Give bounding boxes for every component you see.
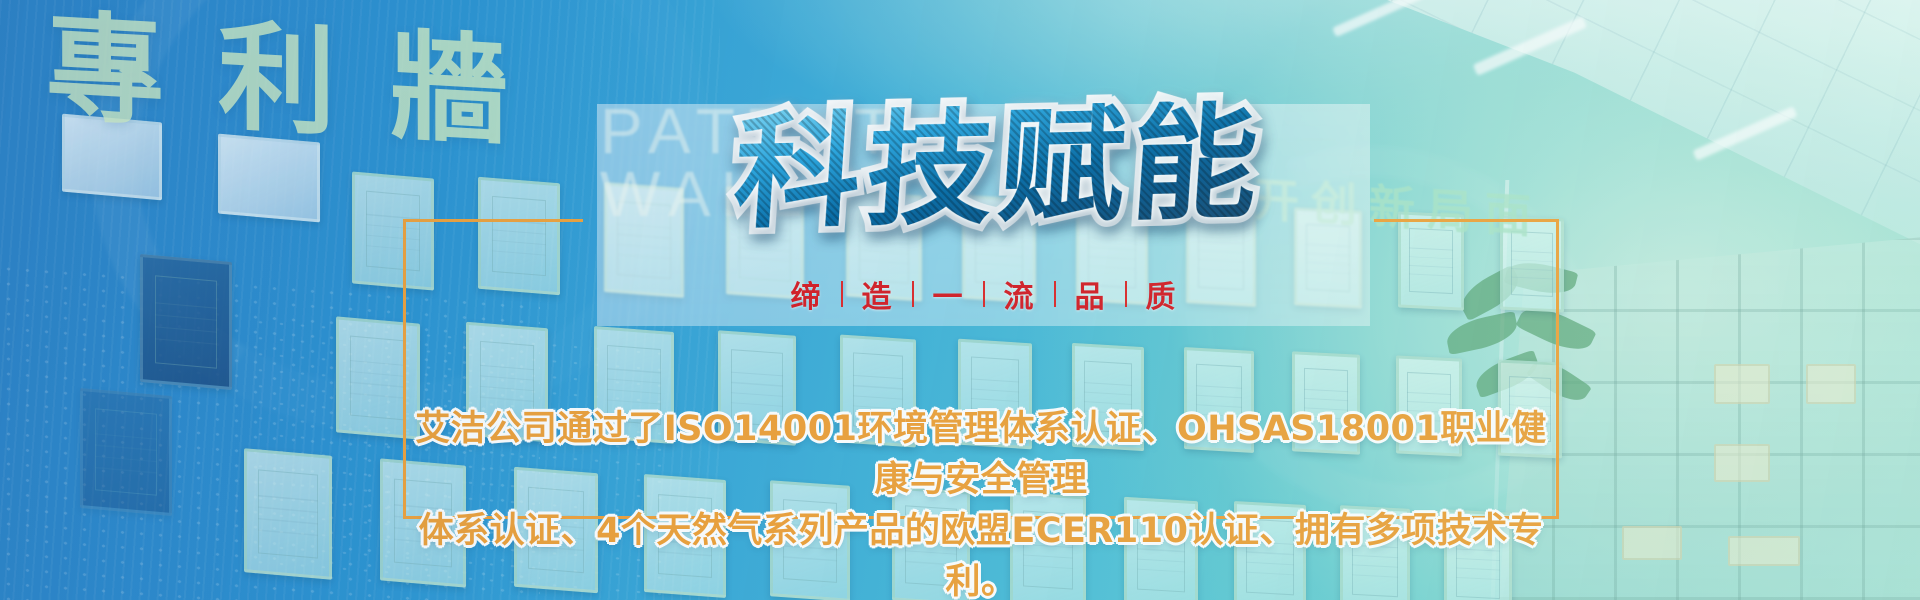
body-copy: 艾洁公司通过了ISO14001环境管理体系认证、OHSAS18001职业健康与安… (403, 404, 1559, 600)
wall-panel-dark (80, 388, 172, 516)
body-copy-line-2: 体系认证、4个天然气系列产品的欧盟ECER110认证、拥有多项技术专利。 (403, 506, 1559, 600)
subtitle-char: 品 (1056, 272, 1125, 316)
subtitle-slogan: 缔 造 一 流 品 质 (597, 272, 1370, 316)
subtitle-char: 质 (1127, 272, 1196, 316)
decor-left-heading: 專利牆 (46, 6, 562, 159)
subtitle-char: 一 (914, 272, 983, 316)
certificate-frame (244, 448, 332, 580)
subtitle-char: 缔 (772, 272, 841, 316)
certificate-frame (478, 177, 560, 296)
orange-frame-top-right (1374, 219, 1559, 222)
subtitle-char: 造 (843, 272, 912, 316)
orange-frame-top-left (403, 219, 583, 222)
body-copy-line-1: 艾洁公司通过了ISO14001环境管理体系认证、OHSAS18001职业健康与安… (403, 404, 1559, 506)
patent-wall-banner: 專利牆 PATENT WALL 开创新局面 科技赋能 科技赋能 缔 造 一 流 … (0, 0, 1920, 600)
wall-panel-dark (140, 254, 232, 390)
headline-text: 科技赋能 (730, 99, 1267, 236)
subtitle-char: 流 (985, 272, 1054, 316)
certificate-frame (352, 171, 434, 290)
